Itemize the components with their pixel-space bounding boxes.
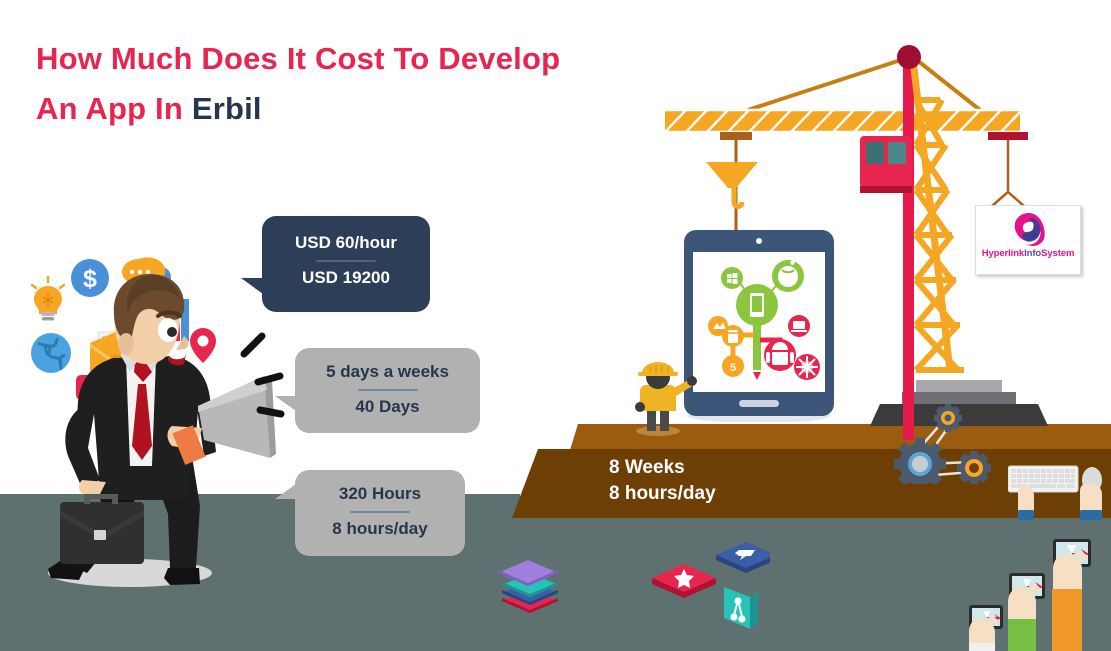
bubble-divider xyxy=(350,511,410,513)
gear-small-top xyxy=(934,404,962,432)
right-hand xyxy=(1080,484,1102,511)
crane-cabin xyxy=(860,136,912,193)
logo-part-hyperlink: Hyperlink xyxy=(982,248,1024,259)
tablet-camera xyxy=(756,238,762,244)
left-sleeve xyxy=(1018,510,1034,520)
bubble-hours-line1: 320 Hours xyxy=(295,484,465,504)
floating-cards-group xyxy=(480,535,770,645)
businessman-character xyxy=(22,258,287,590)
worker-hand xyxy=(687,376,697,386)
title-line-2-prefix: An App In xyxy=(36,91,192,126)
company-sign: HyperlinkInfoSystem xyxy=(975,205,1081,275)
tablet-device: 5 xyxy=(684,230,834,422)
hands-with-phones-group xyxy=(955,535,1111,651)
infographic-canvas: How Much Does It Cost To Develop An App … xyxy=(0,0,1111,651)
bubble-cost-line2: USD 19200 xyxy=(262,268,430,288)
gears-group xyxy=(888,404,1003,484)
bubble-tail xyxy=(241,278,263,294)
logo-part-info: Info xyxy=(1024,248,1041,259)
tablet-home-button xyxy=(739,400,779,407)
bubble-cost-line1: USD 60/hour xyxy=(262,233,430,253)
bubble-divider xyxy=(358,389,418,391)
ground-duration-text: 8 Weeks 8 hours/day xyxy=(609,455,716,507)
star-card xyxy=(652,564,716,598)
bubble-hours: 320 Hours 8 hours/day xyxy=(295,470,465,556)
page-title: How Much Does It Cost To Develop An App … xyxy=(36,34,596,134)
left-hand xyxy=(1018,486,1034,511)
construction-worker xyxy=(630,355,700,437)
bubble-days: 5 days a weeks 40 Days xyxy=(295,348,480,433)
chat-card xyxy=(716,542,770,573)
title-line-2: An App In Erbil xyxy=(36,84,596,134)
trolley-right xyxy=(988,132,1028,140)
svg-text:5: 5 xyxy=(730,362,736,374)
ground-line-1: 8 Weeks xyxy=(609,455,716,481)
company-logo-text: HyperlinkInfoSystem xyxy=(976,248,1080,259)
card-stack xyxy=(498,560,558,613)
ground-line-2: 8 hours/day xyxy=(609,481,716,507)
gear-medium-right xyxy=(957,451,991,484)
bubble-divider xyxy=(316,260,376,262)
hyperlink-logo-icon xyxy=(1012,212,1046,246)
phone-hand-small xyxy=(969,605,1003,651)
title-city: Erbil xyxy=(192,91,262,126)
bubble-tail xyxy=(275,396,296,411)
bubble-cost: USD 60/hour USD 19200 xyxy=(262,216,430,312)
right-sleeve xyxy=(1080,510,1102,520)
title-line-1: How Much Does It Cost To Develop xyxy=(36,34,596,84)
phone-hand-medium xyxy=(1008,573,1045,651)
bubble-tail xyxy=(275,484,296,499)
bubble-days-line1: 5 days a weeks xyxy=(295,362,480,382)
gear-large-left xyxy=(894,438,946,484)
phone-hand-large xyxy=(1052,539,1091,651)
trolley-left xyxy=(720,132,752,140)
keyboard-and-hands xyxy=(1008,460,1111,522)
share-card xyxy=(724,587,758,629)
bubble-hours-line2: 8 hours/day xyxy=(295,519,465,539)
logo-part-system: System xyxy=(1041,248,1074,259)
hard-hat-icon xyxy=(642,362,674,373)
bubble-days-line2: 40 Days xyxy=(295,397,480,417)
